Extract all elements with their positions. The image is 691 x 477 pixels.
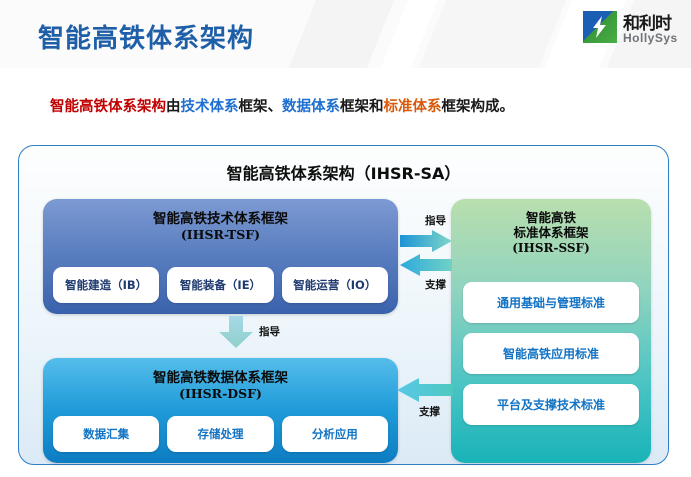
panel-tech-card-row: 智能建造（IB） 智能装备（IE） 智能运营（IO）	[53, 267, 388, 303]
subtitle-seg-frame1: 框架、	[239, 99, 283, 115]
panel-tech-title: 智能高铁技术体系框架	[43, 199, 398, 227]
subtitle-seg-tech: 技术体系	[181, 99, 239, 115]
panel-data-title: 智能高铁数据体系框架	[43, 358, 398, 386]
arrow-label-support-left-lower: 支撑	[419, 404, 440, 419]
card-application-standard[interactable]: 智能高铁应用标准	[463, 333, 639, 374]
arrow-label-support-left: 支撑	[425, 277, 446, 292]
subtitle-seg-frame3: 框架构成。	[442, 99, 515, 115]
panel-tech-subtitle: (IHSR-TSF)	[43, 227, 398, 243]
panel-standard-subtitle: (IHSR-SSF)	[451, 240, 651, 257]
subtitle-seg-data: 数据体系	[282, 99, 340, 115]
logo-square-icon	[583, 11, 617, 43]
card-storage-processing[interactable]: 存储处理	[167, 416, 273, 452]
panel-standard-framework[interactable]: 智能高铁 标准体系框架 (IHSR-SSF) 通用基础与管理标准 智能高铁应用标…	[451, 199, 651, 463]
subtitle-seg-by: 由	[166, 99, 181, 115]
arrow-right-guide-icon	[400, 230, 452, 252]
subtitle-seg-architecture: 智能高铁体系架构	[50, 99, 166, 115]
architecture-diagram-container: 智能高铁体系架构（IHSR-SA） 智能高铁技术体系框架 (IHSR-TSF) …	[18, 145, 669, 465]
logo-english-text: HollySys	[623, 31, 678, 45]
card-platform-support-standard[interactable]: 平台及支撑技术标准	[463, 384, 639, 425]
header-streak	[398, 0, 583, 68]
panel-data-framework[interactable]: 智能高铁数据体系框架 (IHSR-DSF) 数据汇集 存储处理 分析应用	[43, 358, 398, 463]
page-title: 智能高铁体系架构	[38, 18, 254, 55]
arrow-down-guide-icon	[219, 316, 253, 348]
arrow-left-support-icon	[400, 254, 452, 276]
lightning-bolt-icon	[591, 15, 607, 39]
header-streak	[268, 0, 411, 68]
card-data-collection[interactable]: 数据汇集	[53, 416, 159, 452]
arrow-label-guide-down: 指导	[259, 324, 280, 339]
arrow-left-support-lower-icon	[397, 378, 453, 402]
panel-standard-title-line1: 智能高铁	[451, 199, 651, 225]
subtitle-seg-frame2: 框架和	[340, 99, 384, 115]
arrow-label-guide-right: 指导	[425, 213, 446, 228]
card-intelligent-construction[interactable]: 智能建造（IB）	[53, 267, 159, 303]
panel-data-subtitle: (IHSR-DSF)	[43, 386, 398, 402]
card-analysis-application[interactable]: 分析应用	[282, 416, 388, 452]
diagram-title: 智能高铁体系架构（IHSR-SA）	[19, 160, 668, 184]
panel-standard-title-line2: 标准体系框架	[451, 225, 651, 240]
subtitle-seg-standard: 标准体系	[384, 99, 442, 115]
card-intelligent-equipment[interactable]: 智能装备（IE）	[167, 267, 273, 303]
panel-tech-framework[interactable]: 智能高铁技术体系框架 (IHSR-TSF) 智能建造（IB） 智能装备（IE） …	[43, 199, 398, 314]
hollysys-logo: 和利时 HollySys	[583, 9, 681, 51]
header-streak	[360, 0, 455, 68]
card-intelligent-operation[interactable]: 智能运营（IO）	[282, 267, 388, 303]
panel-data-card-row: 数据汇集 存储处理 分析应用	[53, 416, 388, 452]
panel-standard-card-list: 通用基础与管理标准 智能高铁应用标准 平台及支撑技术标准	[463, 282, 639, 425]
card-general-management-standard[interactable]: 通用基础与管理标准	[463, 282, 639, 323]
subtitle-line: 智能高铁体系架构由技术体系框架、数据体系框架和标准体系框架构成。	[50, 95, 514, 116]
